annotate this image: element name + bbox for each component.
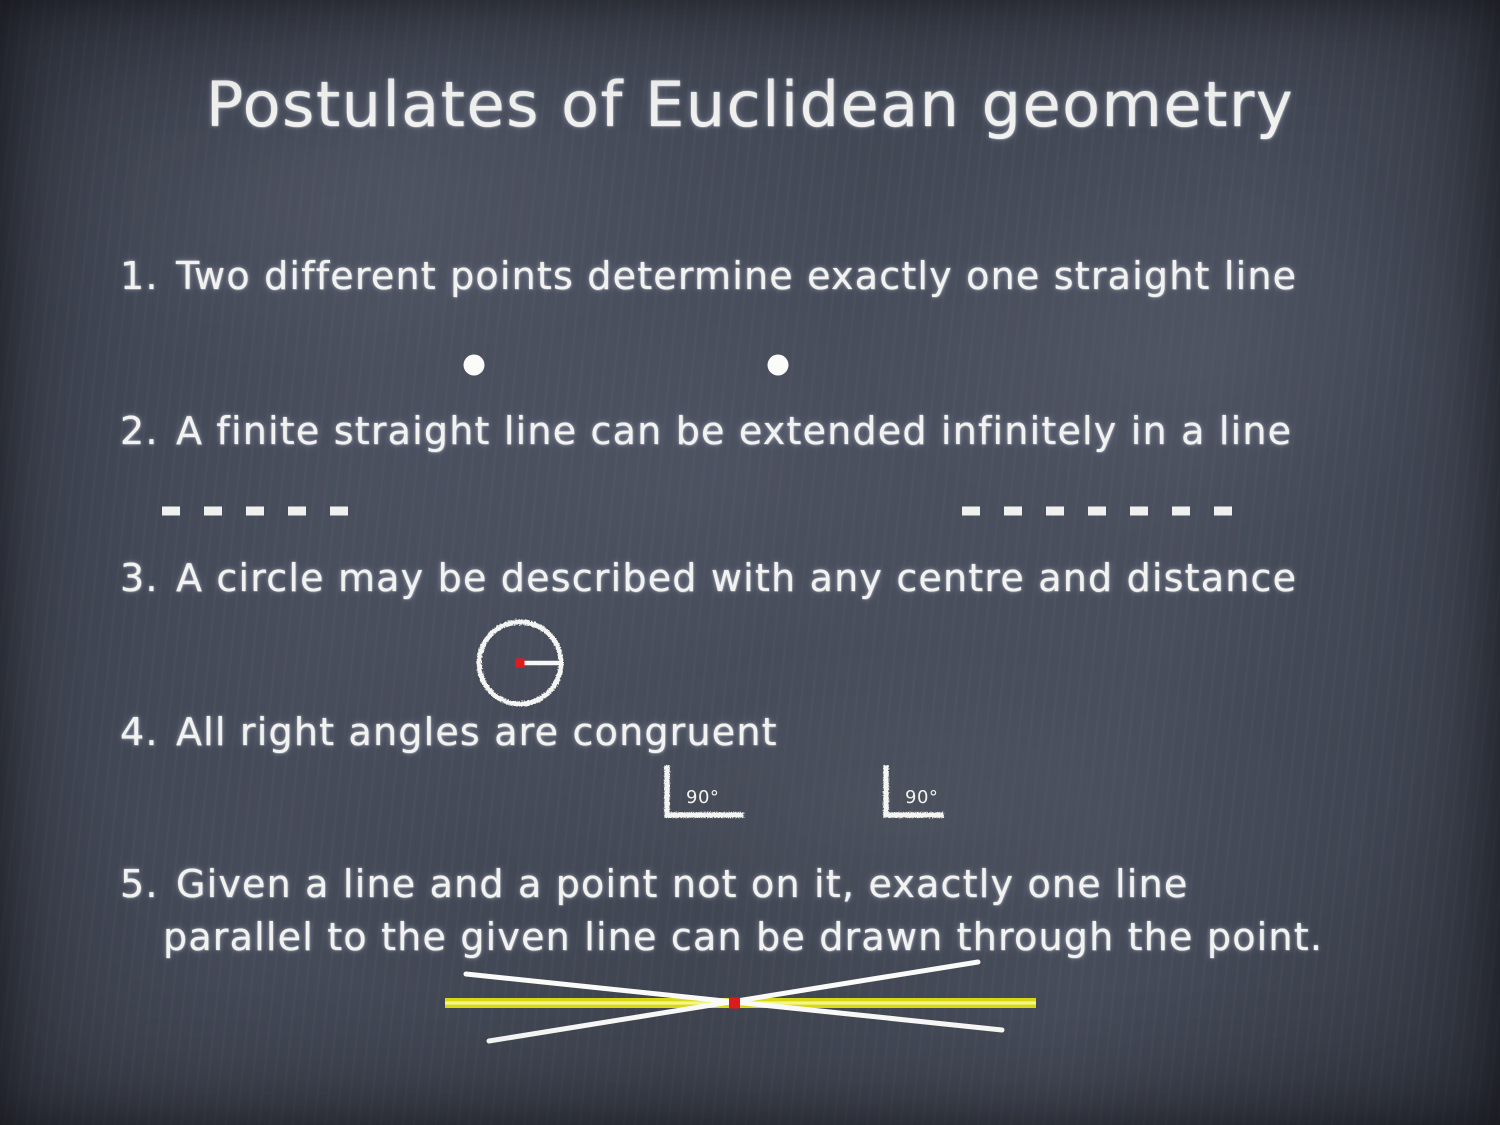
right-angle-corner-2 — [886, 768, 941, 815]
postulate-1-text: Two different points determine exactly o… — [176, 254, 1297, 298]
postulate-3: 3. A circle may be described with any ce… — [120, 554, 1297, 603]
postulate-5: 5. Given a line and a point not on it, e… — [120, 860, 1188, 909]
postulate-1-number: 1. — [120, 254, 159, 298]
right-angle-label-2: 90° — [905, 787, 938, 808]
circle-outline — [479, 622, 561, 704]
postulate-3-number: 3. — [120, 556, 159, 600]
postulate-4-number: 4. — [120, 710, 159, 754]
right-angle-label-1: 90° — [686, 787, 719, 808]
postulate-4: 4. All right angles are congruent — [120, 708, 778, 757]
line-point-a — [464, 355, 485, 376]
diagram-right-angle-marker-2: 90° — [886, 768, 941, 815]
postulate-1: 1. Two different points determine exactl… — [120, 252, 1297, 301]
chalkboard-slide: Postulates of Euclidean geometry 1. Two … — [0, 0, 1500, 1125]
postulate-5-text-line2: parallel to the given line can be drawn … — [163, 915, 1323, 959]
circle-centre-point — [516, 659, 525, 668]
right-angle-corner-1 — [667, 768, 741, 815]
page-title: Postulates of Euclidean geometry — [0, 68, 1500, 141]
postulate-2-number: 2. — [120, 409, 159, 453]
crossing-line-descending — [466, 974, 1002, 1030]
postulate-2: 2. A finite straight line can be extende… — [120, 407, 1292, 456]
given-point — [729, 998, 740, 1009]
postulate-2-text: A finite straight line can be extended i… — [176, 409, 1292, 453]
postulate-4-text: All right angles are congruent — [176, 710, 778, 754]
postulate-5-number: 5. — [120, 862, 159, 906]
diagram-parallel-line-through-point — [444, 962, 1040, 1081]
postulate-5-text: Given a line and a point not on it, exac… — [176, 862, 1189, 906]
diagram-line-with-two-points — [350, 355, 930, 376]
diagram-right-angle-marker-1: 90° — [667, 768, 741, 815]
crossing-line-ascending — [489, 962, 978, 1041]
postulate-5-continuation: parallel to the given line can be drawn … — [163, 913, 1323, 962]
diagram-circle-with-centre-and-radius — [479, 622, 561, 704]
line-point-b — [768, 355, 789, 376]
postulate-3-text: A circle may be described with any centr… — [176, 556, 1297, 600]
